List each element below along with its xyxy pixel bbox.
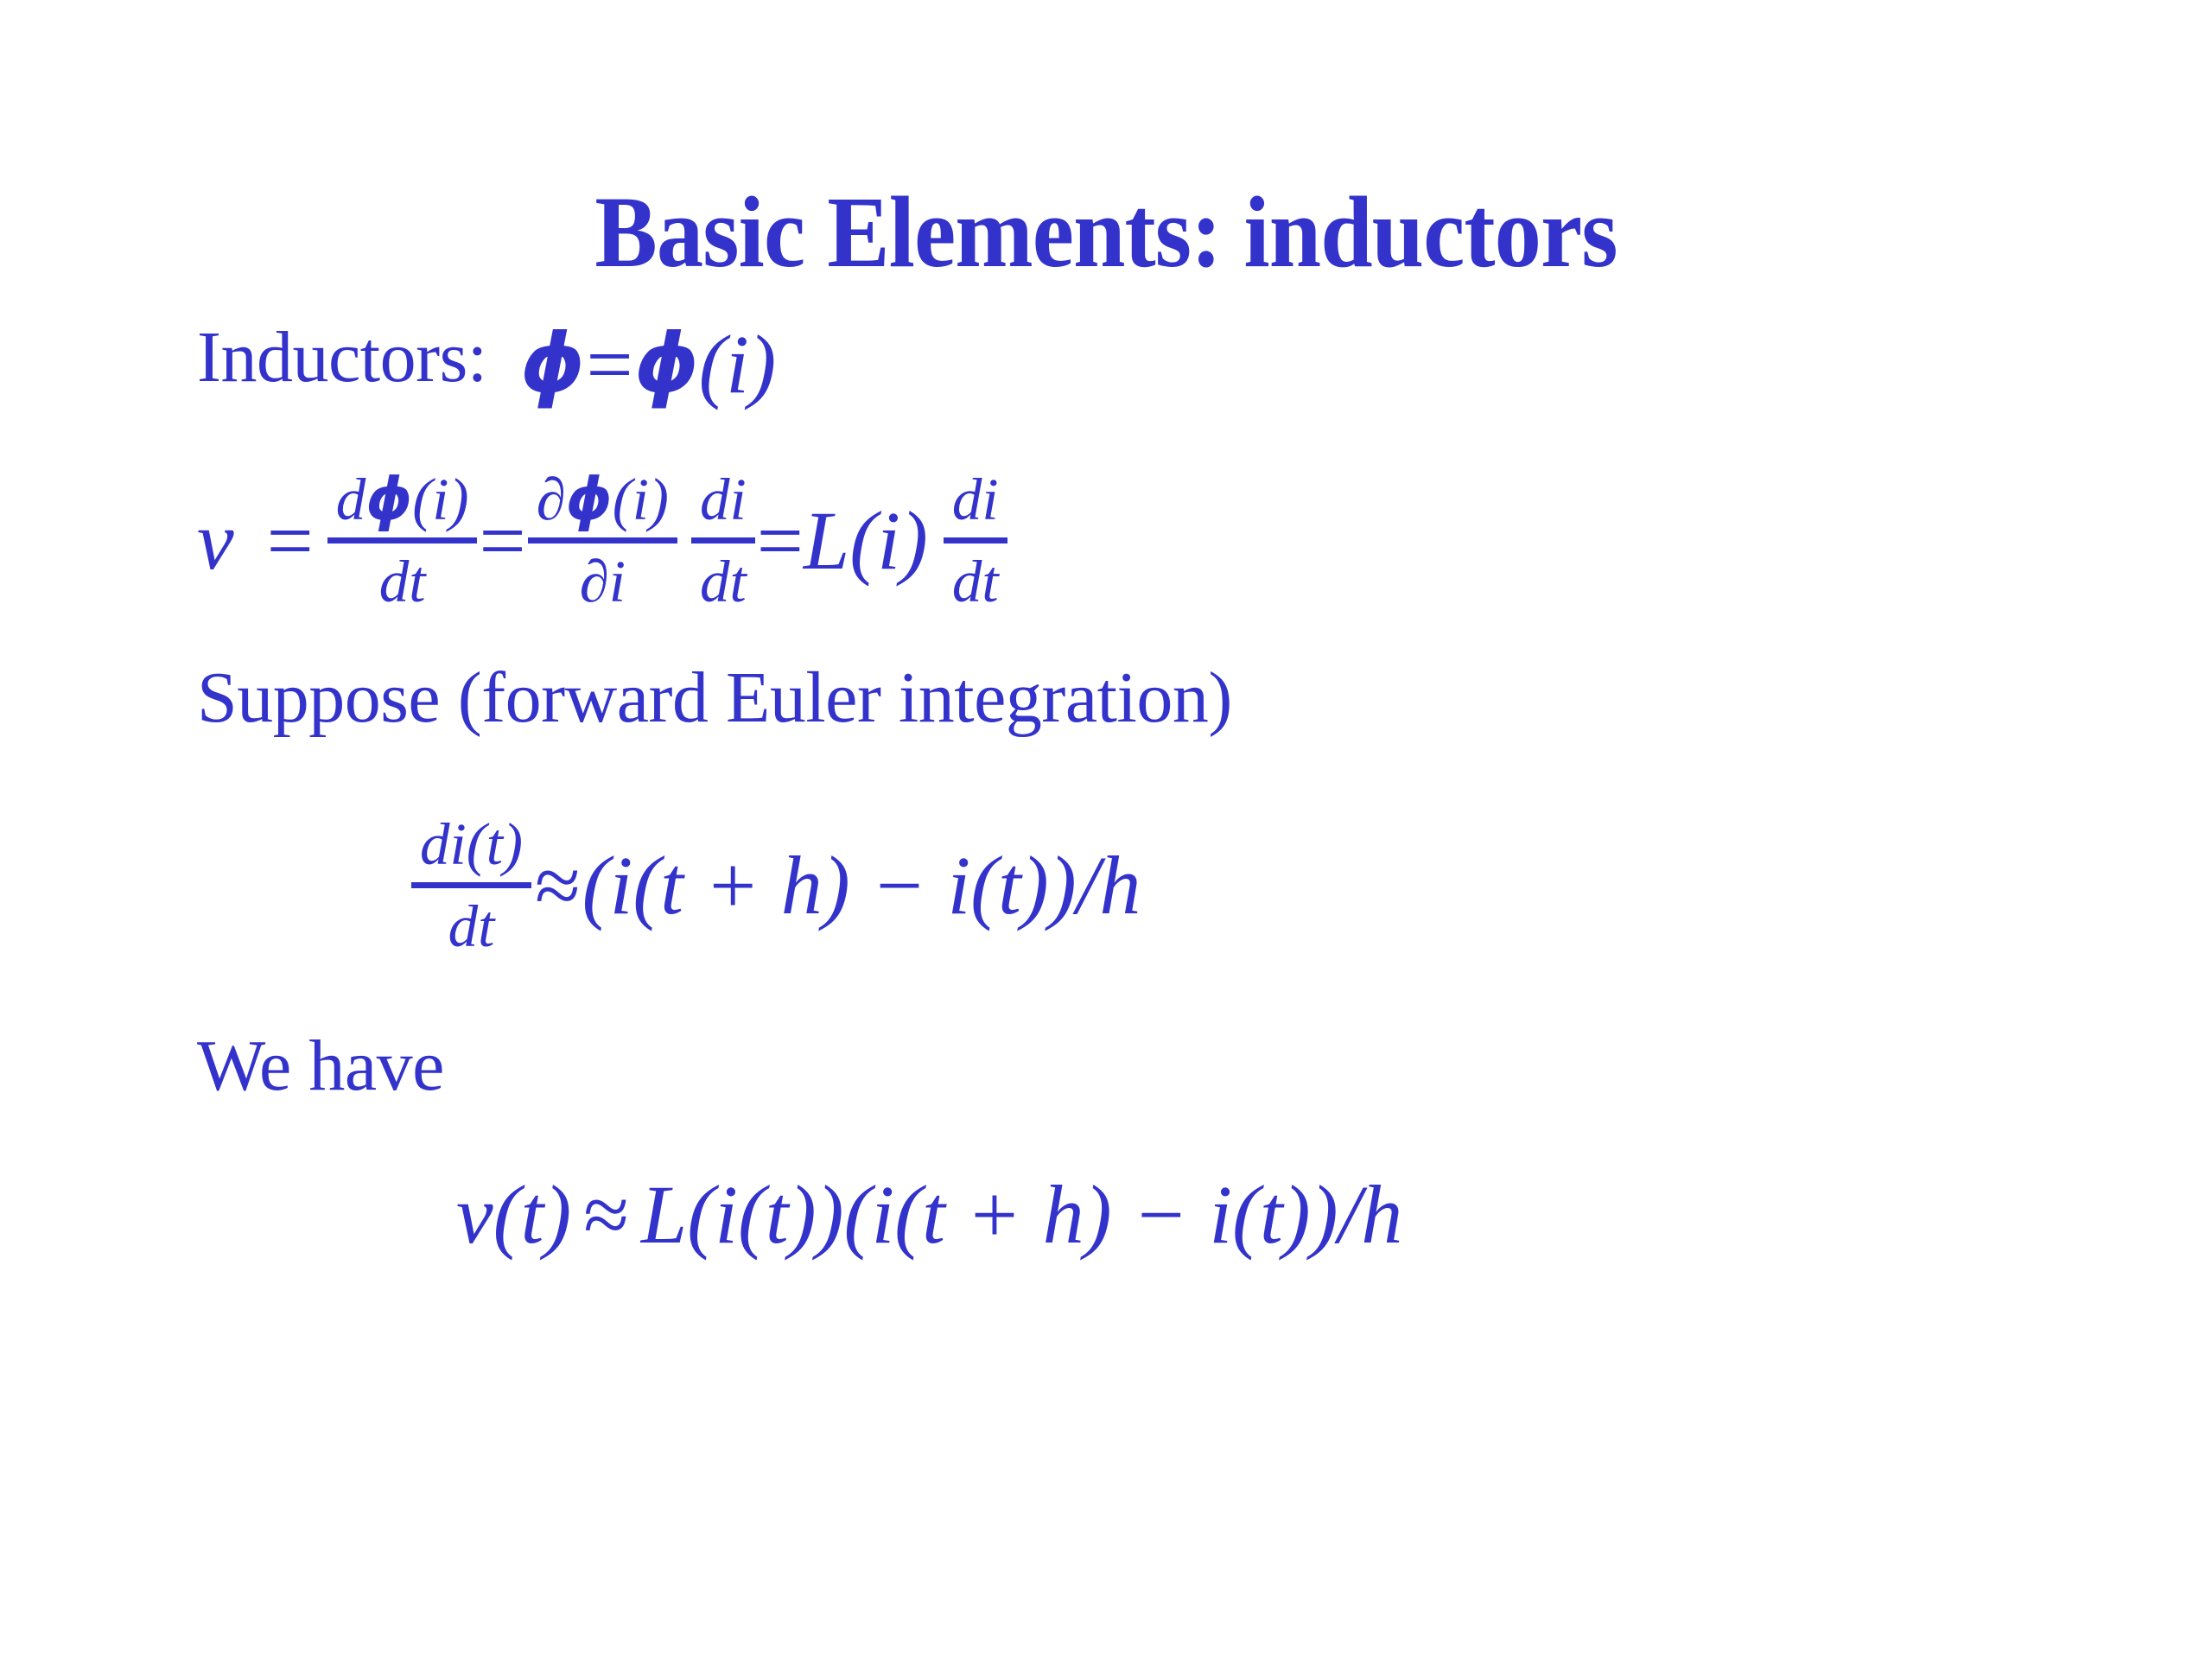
phi-symbol: ϕ [520, 324, 584, 405]
inductors-label: Inductors: [197, 317, 487, 397]
fraction-numerator: di(t) [411, 809, 531, 880]
approximately-equal-sign: ≈ [571, 1166, 641, 1262]
fraction-numerator: ∂ϕ(i) [528, 464, 677, 535]
spacer [197, 988, 2098, 1030]
fraction-bar [528, 537, 677, 543]
fraction-numerator: dϕ(i) [327, 464, 478, 535]
equation-inductor-voltage: v = dϕ(i) dt = ∂ϕ(i) ∂i di dt = L(i) [197, 441, 2098, 639]
phi-argument: (i) [412, 466, 468, 532]
fraction-partial-phi-partial-i: ∂ϕ(i) ∂i [528, 464, 677, 616]
fraction-bar [944, 537, 1007, 543]
fraction-dphi-dt: dϕ(i) dt [327, 464, 478, 616]
eq-vt-lhs: v(t) [456, 1166, 571, 1262]
fraction-bar [691, 537, 755, 543]
phi-symbol: ϕ [365, 465, 412, 533]
spacer [197, 759, 2098, 781]
fraction-denominator: dt [691, 546, 755, 617]
fraction-di-dt-1: di dt [691, 464, 755, 616]
eq-didt-rhs: (i(t + h) − i(t))/h [582, 837, 1141, 933]
equals-sign: = [585, 323, 635, 406]
page-title: Basic Elements: inductors [88, 179, 2123, 286]
eq-vt-rhs: L(i(t))(i(t + h) − i(t))/h [641, 1166, 1402, 1262]
eq-v-lhs: v [197, 493, 255, 588]
equation-forward-euler-derivative: di(t) dt ≈ (i(t + h) − i(t))/h [410, 781, 2098, 988]
inductors-expression: ϕ=ϕ(i) [520, 323, 776, 406]
fraction-bar [327, 537, 478, 543]
fraction-numerator: di [944, 464, 1007, 535]
line-inductors-definition: Inductors: ϕ=ϕ(i) [197, 321, 2098, 418]
spacer [197, 1127, 2098, 1149]
differential-d: d [336, 466, 366, 532]
phi-argument: (i) [613, 466, 669, 532]
phi-symbol-2: ϕ [634, 324, 698, 405]
line-suppose-forward-euler: Suppose (forward Euler integration) [197, 662, 2098, 759]
fraction-numerator: di [691, 464, 755, 535]
inductance-function: L(i) [804, 493, 928, 588]
fraction-denominator: ∂i [571, 546, 634, 617]
slide-canvas: Basic Elements: inductors Inductors: ϕ=ϕ… [0, 0, 2212, 1659]
slide-body: Inductors: ϕ=ϕ(i) v = dϕ(i) dt = ∂ϕ(i) ∂… [197, 321, 2098, 1279]
approximately-equal-sign: ≈ [533, 837, 582, 933]
fraction-di-t-dt: di(t) dt [411, 809, 531, 961]
fraction-denominator: dt [944, 546, 1007, 617]
phi-argument: (i) [699, 323, 776, 406]
fraction-denominator: dt [371, 546, 435, 617]
eq-v-equals-1: = [255, 493, 326, 588]
fraction-di-dt-2: di dt [944, 464, 1007, 616]
fraction-denominator: dt [440, 891, 504, 962]
fraction-bar [411, 882, 531, 888]
equation-discretized-voltage: v(t) ≈ L(i(t))(i(t + h) − i(t))/h [456, 1149, 2098, 1279]
eq-v-equals-2: = [479, 493, 525, 588]
eq-v-equals-3: = [757, 493, 804, 588]
line-we-have: We have [197, 1030, 2098, 1127]
spacer [197, 418, 2098, 441]
phi-symbol: ϕ [566, 465, 613, 533]
partial-derivative-symbol: ∂ [537, 466, 566, 532]
